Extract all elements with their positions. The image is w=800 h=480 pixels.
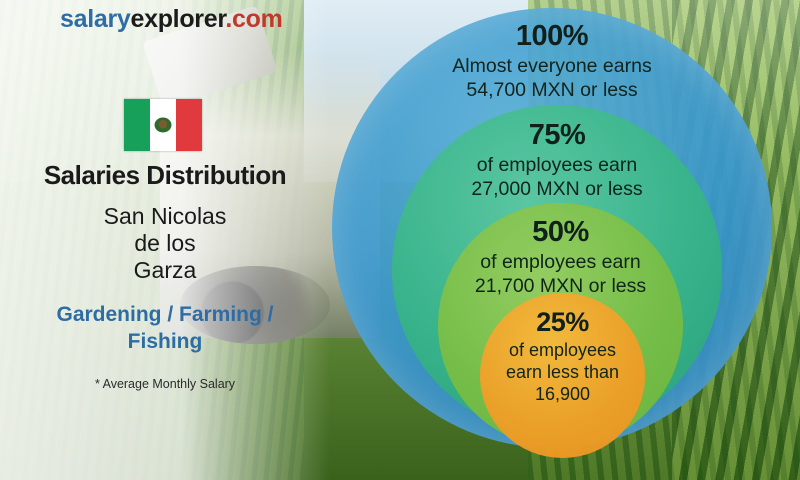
infographic-stage: salaryexplorer.com Salaries Distribution… — [0, 0, 800, 480]
percentile-bubble-25: 25% of employees earn less than 16,900 — [480, 293, 645, 458]
bubble-25-text: of employees earn less than 16,900 — [506, 340, 619, 406]
bubble-50-text: of employees earn 21,700 MXN or less — [475, 251, 646, 299]
bubble-75-line-2: 27,000 MXN or less — [471, 178, 642, 202]
bubble-25-line-1: of employees — [506, 340, 619, 362]
bubble-25-percent: 25% — [536, 307, 589, 338]
bubble-100-text: Almost everyone earns 54,700 MXN or less — [452, 55, 651, 103]
bubble-75-text: of employees earn 27,000 MXN or less — [471, 154, 642, 202]
bubble-75-percent: 75% — [529, 119, 586, 152]
bubble-25-line-3: 16,900 — [506, 384, 619, 406]
bubble-100-line-1: Almost everyone earns — [452, 55, 651, 79]
salary-distribution-chart: 100% Almost everyone earns 54,700 MXN or… — [0, 0, 800, 480]
bubble-75-line-1: of employees earn — [471, 154, 642, 178]
bubble-100-line-2: 54,700 MXN or less — [452, 79, 651, 103]
bubble-100-percent: 100% — [516, 20, 588, 53]
bubble-25-line-2: earn less than — [506, 362, 619, 384]
bubble-50-line-1: of employees earn — [475, 251, 646, 275]
bubble-50-percent: 50% — [532, 216, 589, 249]
